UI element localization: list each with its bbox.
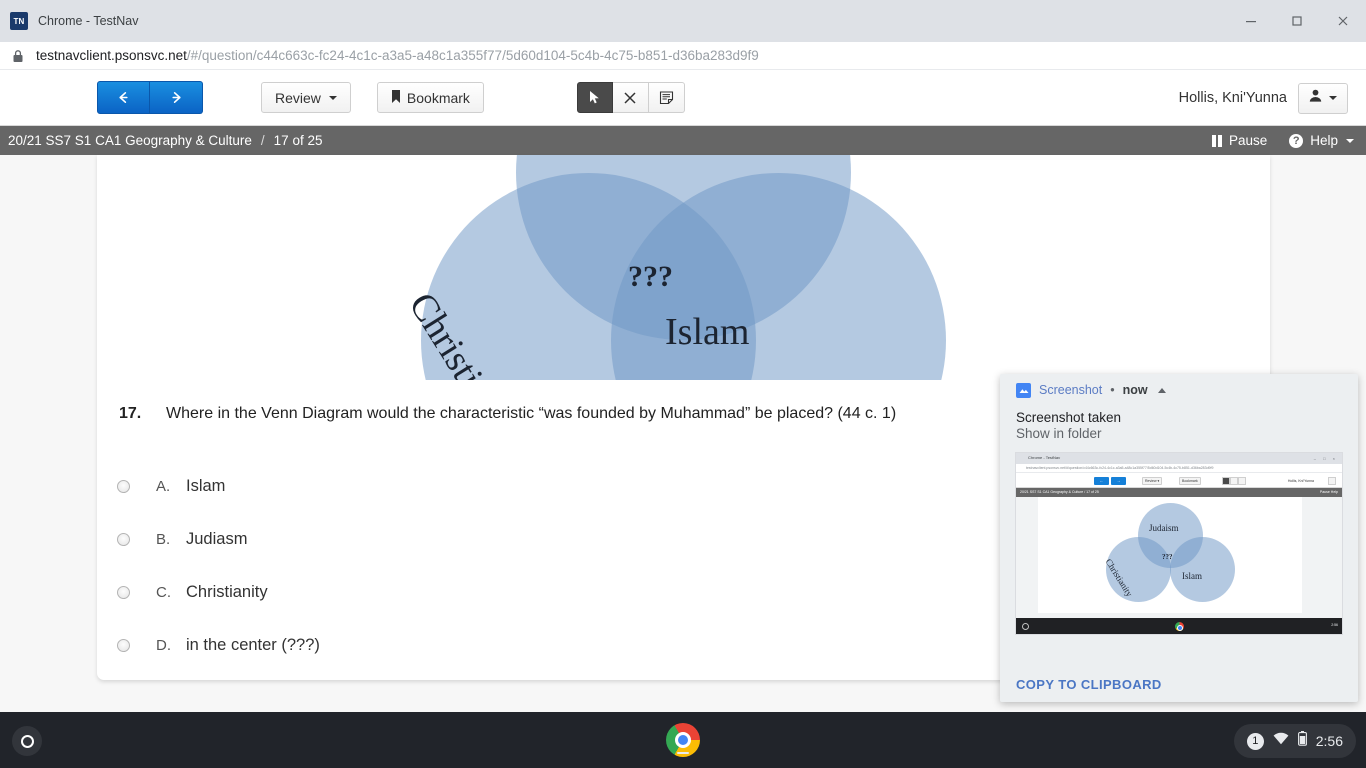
system-tray[interactable]: 1 2:56 [1234, 724, 1356, 758]
screenshot-notification[interactable]: Screenshot • now Screenshot taken Show i… [1000, 374, 1358, 702]
previous-question-button[interactable] [97, 81, 150, 114]
chromeos-shelf: 1 2:56 [0, 712, 1366, 768]
copy-to-clipboard-button[interactable]: COPY TO CLIPBOARD [1016, 677, 1162, 692]
radio-button[interactable] [117, 480, 130, 493]
thumb-note-tool [1238, 477, 1246, 485]
thumb-eliminate-tool [1230, 477, 1238, 485]
testnav-app-badge: TN [10, 12, 28, 30]
option-letter: D. [156, 637, 186, 654]
url-path: /#/question/c44c663c-fc24-4c1c-a3a5-a48c… [187, 48, 759, 63]
chrome-icon[interactable] [666, 723, 700, 757]
pause-icon [1212, 135, 1222, 147]
window-title: Chrome - TestNav [38, 14, 139, 28]
notification-time: now [1123, 383, 1148, 397]
screenshot-thumbnail[interactable]: Chrome - TestNav – □ × testnavclient.pso… [1015, 452, 1343, 635]
thumb-forward-button: → [1111, 477, 1126, 485]
answer-option-b[interactable]: B. Judiasm [117, 513, 320, 566]
venn-label-islam: Islam [665, 310, 749, 354]
thumb-window-controls: – □ × [1314, 456, 1338, 461]
next-question-button[interactable] [150, 81, 203, 114]
thumb-omnibox: testnavclient.psonsvc.net/#/question/c44… [1016, 464, 1342, 473]
launcher-button[interactable] [12, 726, 42, 756]
status-bar-actions: Pause ? Help [1212, 126, 1354, 155]
thumb-venn-label-center: ??? [1162, 553, 1173, 561]
testnav-toolbar: Review Bookmark [0, 70, 1366, 126]
thumb-shelf-time: 2:56 [1331, 623, 1338, 627]
maximize-icon[interactable] [1274, 0, 1320, 42]
option-text: Judiasm [186, 530, 247, 549]
help-menu-button[interactable]: ? Help [1289, 133, 1354, 148]
thumb-pointer-tool [1222, 477, 1230, 485]
answer-options: A. Islam B. Judiasm C. Christianity D. i… [117, 460, 320, 672]
option-letter: A. [156, 478, 186, 495]
notification-app-name: Screenshot [1039, 383, 1102, 397]
review-label: Review [275, 90, 321, 106]
chevron-down-icon [1346, 139, 1354, 143]
option-letter: C. [156, 584, 186, 601]
user-area: Hollis, Kni'Yunna [1179, 70, 1348, 126]
answer-tool-group [577, 82, 685, 113]
pause-label: Pause [1229, 133, 1267, 148]
eliminate-tool-button[interactable] [613, 82, 649, 113]
bookmark-icon [391, 90, 401, 106]
thumb-url: testnavclient.psonsvc.net/#/question/c44… [1026, 466, 1213, 470]
radio-button[interactable] [117, 533, 130, 546]
thumb-chrome-icon [1175, 622, 1184, 631]
navigation-button-group [97, 81, 203, 114]
thumb-venn-circle-islam [1170, 537, 1235, 602]
venn-diagram: Judaism Christianity Islam ??? [97, 155, 1270, 380]
question-text: Where in the Venn Diagram would the char… [166, 405, 896, 423]
user-menu-button[interactable] [1298, 83, 1348, 114]
pointer-tool-button[interactable] [577, 82, 613, 113]
url-text[interactable]: testnavclient.psonsvc.net/#/question/c44… [36, 48, 759, 63]
person-icon [1309, 89, 1322, 107]
thumb-titlebar: Chrome - TestNav – □ × [1016, 453, 1342, 464]
radio-button[interactable] [117, 639, 130, 652]
help-label: Help [1310, 133, 1338, 148]
thumb-venn-diagram: Judaism Christianity Islam ??? [1038, 497, 1302, 613]
wifi-icon [1273, 732, 1289, 750]
thumb-toolbar: ← → Review ▾ Bookmark Hollis, Kni'Yunna [1016, 473, 1342, 488]
lock-icon [12, 49, 24, 63]
bookmark-label: Bookmark [407, 90, 470, 106]
answer-option-c[interactable]: C. Christianity [117, 566, 320, 619]
sticky-note-tool-button[interactable] [649, 82, 685, 113]
window-titlebar: TN Chrome - TestNav [0, 0, 1366, 42]
notification-separator: • [1110, 383, 1114, 397]
window-controls [1228, 0, 1366, 42]
thumb-back-button: ← [1094, 477, 1109, 485]
option-letter: B. [156, 531, 186, 548]
chevron-down-icon [329, 96, 337, 100]
thumb-user-menu [1328, 477, 1336, 485]
notification-count-badge: 1 [1247, 733, 1264, 750]
minimize-icon[interactable] [1228, 0, 1274, 42]
launcher-circle-icon [21, 735, 34, 748]
option-text: in the center (???) [186, 636, 320, 655]
chevron-down-icon [1329, 96, 1337, 100]
show-in-folder-link[interactable]: Show in folder [1016, 426, 1358, 441]
thumb-bookmark-button: Bookmark [1179, 477, 1201, 485]
option-text: Islam [186, 477, 225, 496]
url-domain: testnavclient.psonsvc.net [36, 48, 187, 63]
bookmark-button[interactable]: Bookmark [377, 82, 484, 113]
thumb-status-actions: Pause Help [1320, 490, 1338, 494]
venn-label-center: ??? [628, 260, 673, 294]
thumb-shelf: 2:56 [1016, 618, 1342, 634]
test-status-bar: 20/21 SS7 S1 CA1 Geography & Culture / 1… [0, 126, 1366, 155]
option-text: Christianity [186, 583, 268, 602]
active-window-indicator [677, 752, 689, 755]
image-icon [1016, 383, 1031, 398]
omnibox-bar[interactable]: testnavclient.psonsvc.net/#/question/c44… [0, 42, 1366, 70]
thumb-question-card: Judaism Christianity Islam ??? [1038, 497, 1302, 613]
thumb-user-name: Hollis, Kni'Yunna [1286, 477, 1316, 485]
user-name: Hollis, Kni'Yunna [1179, 90, 1287, 106]
test-title: 20/21 SS7 S1 CA1 Geography & Culture [8, 133, 252, 148]
thumb-window-title: Chrome - TestNav [1028, 455, 1060, 460]
review-dropdown-button[interactable]: Review [261, 82, 351, 113]
thumb-statusbar: 20/21 SS7 S1 CA1 Geography & Culture / 1… [1016, 488, 1342, 497]
answer-option-d[interactable]: D. in the center (???) [117, 619, 320, 672]
close-icon[interactable] [1320, 0, 1366, 42]
notification-header: Screenshot • now [1000, 374, 1358, 406]
thumb-review-button: Review ▾ [1142, 477, 1162, 485]
question-mark-icon: ? [1289, 134, 1303, 148]
radio-button[interactable] [117, 586, 130, 599]
battery-icon [1298, 731, 1307, 751]
thumb-venn-label-judaism: Judaism [1149, 523, 1179, 533]
thumb-launcher-icon [1022, 623, 1029, 630]
notification-title: Screenshot taken [1016, 410, 1358, 425]
answer-option-a[interactable]: A. Islam [117, 460, 320, 513]
thumb-venn-label-islam: Islam [1182, 571, 1202, 581]
status-separator: / [261, 133, 265, 148]
pause-button[interactable]: Pause [1212, 133, 1267, 148]
thumb-status-title: 20/21 SS7 S1 CA1 Geography & Culture / 1… [1020, 490, 1099, 494]
clock: 2:56 [1316, 733, 1343, 749]
question-number: 17. [119, 405, 166, 423]
question-progress: 17 of 25 [274, 133, 323, 148]
chevron-up-icon[interactable] [1158, 388, 1166, 393]
